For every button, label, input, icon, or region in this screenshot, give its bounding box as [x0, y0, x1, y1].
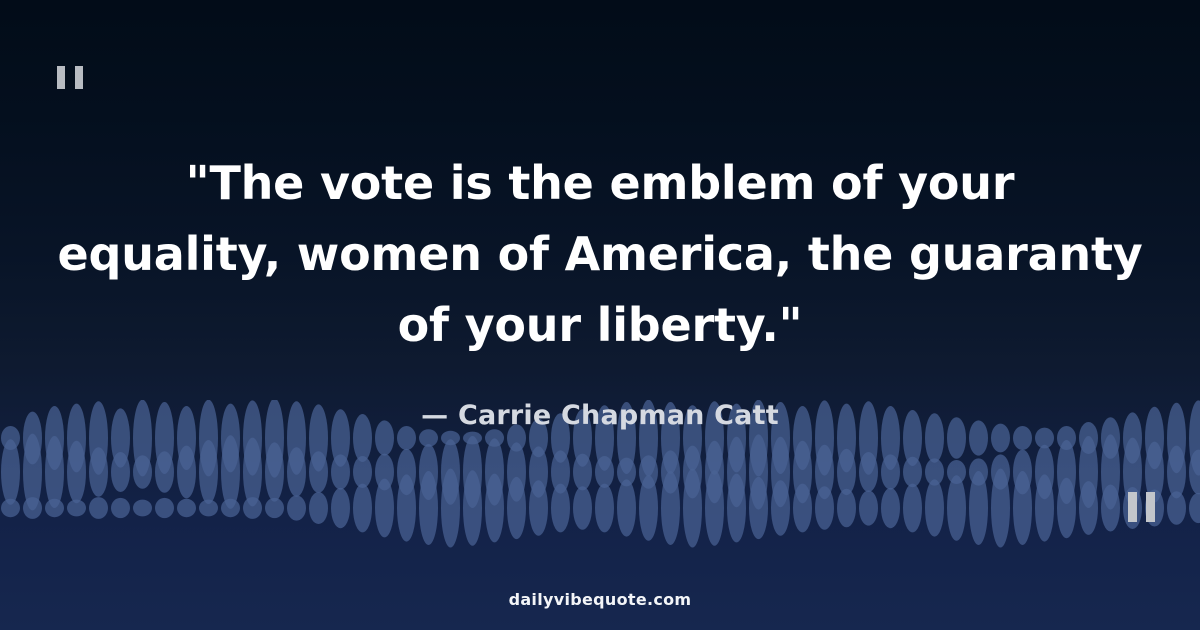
waveform-bar — [859, 490, 878, 525]
site-watermark: dailyvibequote.com — [0, 590, 1200, 609]
waveform-bar — [67, 500, 86, 517]
waveform-bar — [617, 479, 636, 536]
waveform-bar — [485, 429, 504, 447]
waveform-bar — [111, 452, 130, 492]
waveform-bar — [661, 450, 680, 493]
quote-mark-open-icon — [57, 66, 83, 89]
waveform-bar — [815, 486, 834, 530]
waveform-bar — [683, 446, 702, 499]
waveform-bar — [1, 439, 20, 505]
waveform-bar — [23, 434, 42, 511]
waveform-bar — [683, 469, 702, 548]
waveform-bar — [265, 498, 284, 518]
quote-bar-left — [1128, 492, 1137, 522]
waveform-bar — [221, 499, 240, 517]
waveform-bar — [881, 488, 900, 528]
waveform-bar — [353, 456, 372, 488]
waveform-bar — [771, 480, 790, 535]
waveform-bar — [1079, 481, 1098, 535]
waveform-bar — [375, 454, 394, 491]
waveform-bar — [969, 458, 988, 485]
waveform-bar — [1057, 478, 1076, 538]
waveform-bar — [463, 432, 482, 445]
waveform-bar — [177, 499, 196, 517]
waveform-bar — [419, 444, 438, 500]
waveform-bar — [287, 495, 306, 520]
quote-attribution: — Carrie Chapman Catt — [0, 400, 1200, 431]
waveform-bar — [1167, 446, 1186, 499]
waveform-bar — [463, 436, 482, 508]
waveform-bar — [969, 471, 988, 545]
waveform-bar — [529, 480, 548, 535]
waveform-bar — [1013, 450, 1032, 495]
waveform-bar — [1101, 434, 1120, 509]
waveform-bar — [793, 441, 812, 503]
waveform-bar — [595, 456, 614, 488]
waveform-bar — [903, 457, 922, 487]
waveform-bar — [155, 498, 174, 518]
waveform-bar — [727, 437, 746, 507]
waveform-bar — [353, 484, 372, 533]
waveform-bar — [1079, 436, 1098, 508]
waveform-bar — [507, 477, 526, 539]
waveform-bar — [1035, 445, 1054, 499]
waveform-bar — [485, 474, 504, 543]
waveform-bar — [67, 441, 86, 503]
waveform-bar — [573, 454, 592, 491]
waveform-row — [1, 434, 1200, 511]
waveform-bar — [1013, 471, 1032, 545]
quote-bar-right — [1146, 492, 1155, 522]
waveform-bar — [1167, 491, 1186, 525]
waveform-bar — [991, 454, 1010, 489]
waveform-bar — [639, 455, 658, 489]
waveform-bar — [1, 499, 20, 517]
waveform-bar — [1101, 485, 1120, 532]
waveform-bar — [617, 458, 636, 487]
waveform-bar — [749, 434, 768, 509]
waveform-bar — [529, 446, 548, 497]
waveform-bar — [199, 440, 218, 504]
waveform-bar — [771, 437, 790, 507]
waveform-bar — [397, 449, 416, 495]
waveform-bar — [287, 447, 306, 497]
waveform-bar — [837, 489, 856, 528]
waveform-bar — [419, 471, 438, 545]
waveform-bar — [573, 486, 592, 530]
waveform-bar — [661, 471, 680, 545]
waveform-bar — [991, 469, 1010, 548]
waveform-bar — [133, 500, 152, 517]
waveform-bar — [177, 446, 196, 499]
waveform-bar — [375, 479, 394, 538]
waveform-bar — [23, 497, 42, 519]
waveform-bar — [815, 445, 834, 499]
waveform-bar — [925, 458, 944, 485]
waveform-bar — [243, 438, 262, 507]
quote-mark-close-icon — [1128, 492, 1155, 522]
waveform-bar — [133, 455, 152, 489]
waveform-bar — [89, 447, 108, 497]
quote-card: "The vote is the emblem of your equality… — [0, 0, 1200, 630]
waveform-bar — [45, 436, 64, 508]
quote-text: "The vote is the emblem of your equality… — [0, 148, 1200, 361]
waveform-bar — [155, 451, 174, 493]
waveform-bar — [881, 454, 900, 489]
waveform-bar — [705, 470, 724, 546]
waveform-bar — [903, 484, 922, 533]
waveform-bar — [793, 484, 812, 533]
waveform-bar — [89, 497, 108, 519]
quote-bar-right — [75, 66, 83, 89]
waveform-bar — [441, 431, 460, 445]
waveform-bar — [859, 452, 878, 492]
waveform-bar — [1189, 450, 1200, 495]
waveform-bar — [507, 442, 526, 501]
waveform-bar — [331, 454, 350, 489]
waveform-bar — [309, 451, 328, 493]
waveform-bar — [925, 479, 944, 536]
waveform-bar — [243, 497, 262, 519]
waveform-bar — [837, 449, 856, 495]
waveform-bar — [463, 470, 482, 546]
waveform-bar — [705, 441, 724, 503]
waveform-bar — [947, 460, 966, 484]
waveform-bar — [441, 469, 460, 548]
waveform-bar — [1057, 440, 1076, 504]
waveform-row — [1, 469, 1200, 548]
waveform-bar — [551, 450, 570, 493]
waveform-bar — [1189, 493, 1200, 523]
waveform-bar — [111, 498, 130, 518]
waveform-bar — [199, 500, 218, 517]
waveform-bar — [221, 435, 240, 509]
waveform-bar — [1035, 474, 1054, 541]
waveform-bar — [485, 438, 504, 505]
waveform-bar — [595, 484, 614, 533]
waveform-bar — [749, 477, 768, 539]
quote-bar-left — [57, 66, 65, 89]
waveform-bar — [441, 439, 460, 505]
waveform-bar — [551, 484, 570, 533]
waveform-bar — [45, 499, 64, 517]
waveform-bar — [727, 474, 746, 543]
waveform-bar — [419, 429, 438, 447]
waveform-bar — [397, 474, 416, 541]
waveform-bar — [947, 475, 966, 541]
waveform-bar — [331, 488, 350, 528]
waveform-bar — [639, 475, 658, 541]
waveform-bar — [265, 442, 284, 501]
waveform-bar — [309, 492, 328, 524]
